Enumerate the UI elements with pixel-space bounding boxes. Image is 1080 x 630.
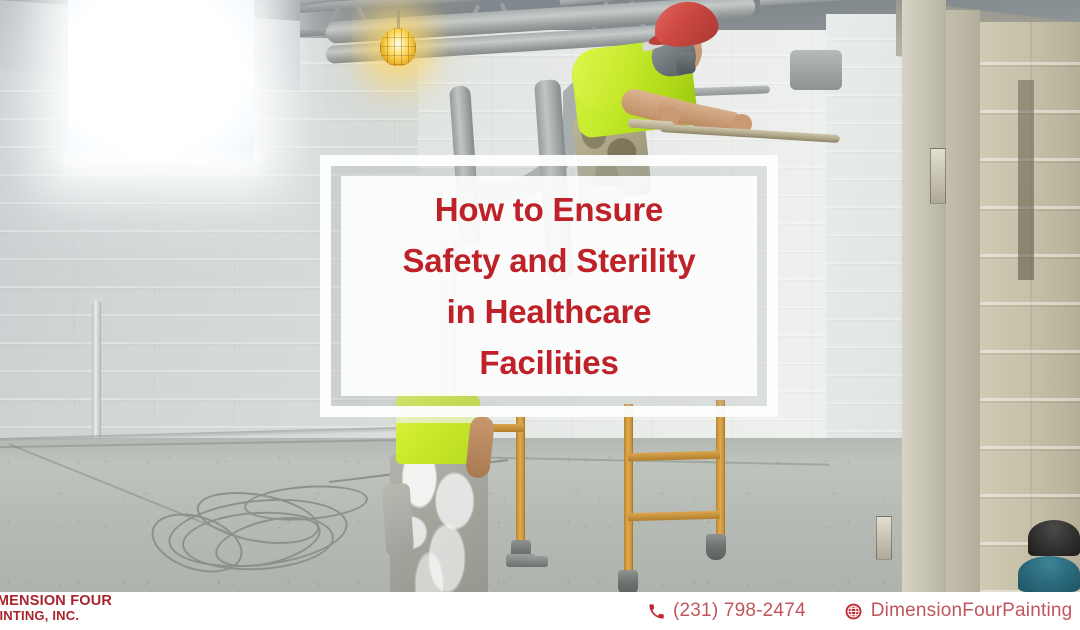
scaffold-caster — [618, 570, 638, 592]
wall-conduit — [92, 300, 101, 452]
dark-pail — [1028, 520, 1080, 556]
globe-icon — [844, 602, 863, 621]
scaffold-leg — [516, 416, 525, 548]
footer-bar: DIMENSION FOUR PAINTING, INC. (231) 798-… — [0, 592, 1080, 630]
worker-arm — [465, 415, 495, 479]
scaffold-clamp — [526, 556, 548, 567]
scaffold-leg — [624, 404, 633, 580]
scaffold-caster — [706, 534, 726, 560]
blown-out-window — [68, 0, 254, 162]
logo-line-2: PAINTING, INC. — [0, 609, 172, 623]
contact-info: (231) 798-2474 DimensionFourPainting — [648, 592, 1072, 630]
worker-on-scaffold — [556, 0, 816, 180]
scaffold-leg — [716, 400, 725, 544]
title-line-1: How to Ensure — [435, 184, 663, 235]
title-line-3: in Healthcare — [447, 286, 652, 337]
paint-bucket — [1018, 556, 1080, 592]
door-hinge-plate — [930, 148, 946, 204]
title-line-2: Safety and Sterility — [402, 235, 695, 286]
door-hinge-plate-lower — [876, 516, 892, 560]
company-logo[interactable]: DIMENSION FOUR PAINTING, INC. — [0, 594, 172, 623]
phone-number[interactable]: (231) 798-2474 — [673, 600, 806, 622]
respirator-cartridge — [675, 51, 696, 75]
worker-on-floor — [384, 392, 514, 592]
light-stem — [397, 10, 400, 30]
red-hard-hat — [651, 0, 721, 50]
door-jamb — [902, 0, 946, 592]
title-card: How to Ensure Safety and Sterility in He… — [341, 176, 757, 396]
window-light-spill — [62, 152, 262, 180]
title-line-4: Facilities — [479, 337, 618, 388]
website-url[interactable]: DimensionFourPainting — [871, 600, 1073, 622]
door-reveal — [944, 10, 980, 592]
featured-image: How to Ensure Safety and Sterility in He… — [0, 0, 1080, 630]
light-cage-icon — [380, 28, 416, 66]
wall-shadow-gap — [1018, 80, 1034, 280]
hanging-rag — [382, 483, 415, 557]
phone-icon — [648, 603, 665, 620]
logo-line-1: DIMENSION FOUR — [0, 594, 172, 609]
